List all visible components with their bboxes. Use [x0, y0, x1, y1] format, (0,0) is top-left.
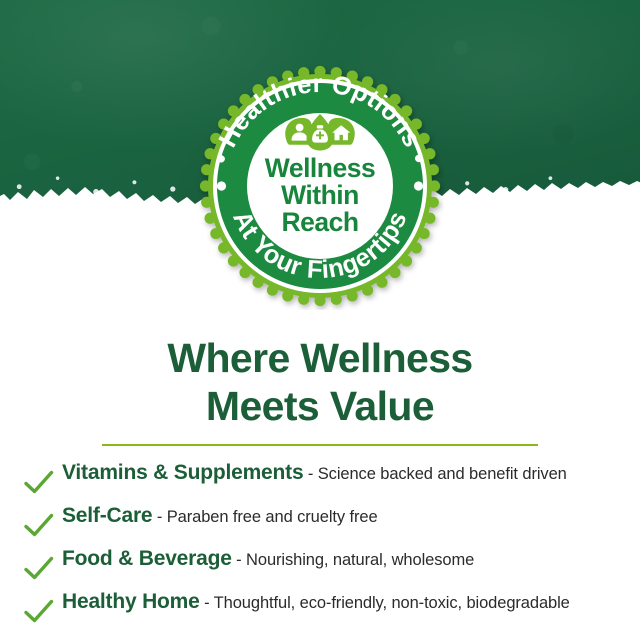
benefit-title: Food & Beverage — [62, 547, 232, 570]
benefit-text: Healthy Home - Thoughtful, eco-friendly,… — [62, 590, 570, 614]
check-icon — [24, 554, 62, 584]
list-item: Self-Care - Paraben free and cruelty fre… — [24, 504, 624, 547]
benefit-description: - Paraben free and cruelty free — [157, 508, 378, 526]
badge-dot-left — [217, 181, 226, 190]
benefit-title: Self-Care — [62, 504, 152, 527]
headline-divider — [102, 444, 538, 446]
headline-line-1: Where Wellness — [0, 334, 640, 382]
benefit-title: Vitamins & Supplements — [62, 461, 303, 484]
benefits-list: Vitamins & Supplements - Science backed … — [24, 461, 624, 633]
badge-dot-right — [414, 181, 423, 190]
svg-text:Reach: Reach — [281, 207, 358, 237]
headline-line-2: Meets Value — [0, 382, 640, 430]
check-icon — [24, 597, 62, 627]
benefit-description: - Science backed and benefit driven — [308, 465, 567, 483]
list-item: Food & Beverage - Nourishing, natural, w… — [24, 547, 624, 590]
svg-text:Wellness: Wellness — [265, 153, 375, 183]
benefit-description: - Nourishing, natural, wholesome — [236, 551, 474, 569]
list-item: Vitamins & Supplements - Science backed … — [24, 461, 624, 504]
benefit-text: Self-Care - Paraben free and cruelty fre… — [62, 504, 378, 528]
list-item: Healthy Home - Thoughtful, eco-friendly,… — [24, 590, 624, 633]
benefit-text: Food & Beverage - Nourishing, natural, w… — [62, 547, 474, 571]
benefit-text: Vitamins & Supplements - Science backed … — [62, 461, 567, 485]
benefit-title: Healthy Home — [62, 590, 200, 613]
benefit-description: - Thoughtful, eco-friendly, non-toxic, b… — [204, 594, 570, 612]
svg-text:Within: Within — [281, 180, 359, 210]
check-icon — [24, 468, 62, 498]
page-headline: Where Wellness Meets Value — [0, 334, 640, 431]
check-icon — [24, 511, 62, 541]
wellness-badge-seal: • Healthier Options • At Your Fingertips — [196, 62, 444, 310]
